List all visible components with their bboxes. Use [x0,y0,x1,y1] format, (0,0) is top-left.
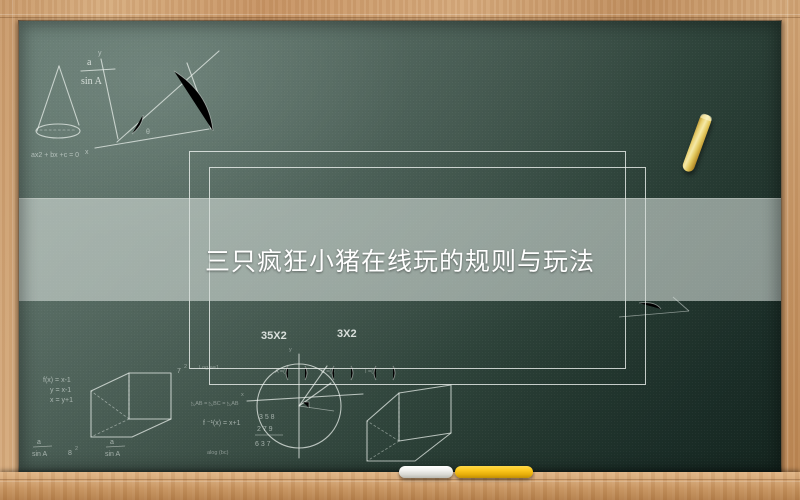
tray-lip-shadow [0,479,800,480]
inverse-function: f ⁻¹(x) = x+1 [203,420,241,427]
eight-squared: 8 2 [68,446,78,457]
chalkboard-banner: a sin A y x θ ax2 + bx +c = [0,0,800,500]
alog-bc: alog (bc) [207,450,229,456]
angle-axes-doodle: y x θ [85,50,219,156]
title-band-edge [19,198,781,199]
frac3-numerator: a [110,439,114,446]
eight-exponent: 2 [75,446,78,452]
fx-line-1: f(x) = x-1 [43,377,71,384]
division-row-3: 6 3 7 [255,441,271,448]
chalk-piece-yellow [455,466,533,478]
page-title: 三只疯狂小猪在线玩的规则与玩法 [19,248,781,276]
tray-lip-highlight [0,481,800,482]
circle-axis-x: x [241,392,244,398]
fx-line-3: x = y+1 [50,397,73,404]
quadratic-equation: ax2 + bx +c = 0 [31,152,79,159]
division-row-1: 3 5 8 [259,414,275,421]
chalk-piece-white [399,466,453,478]
axis-x-label: x [85,149,89,156]
cone-doodle [36,66,80,138]
fraction-numerator: a [87,57,92,68]
frame-bevel-right [787,0,788,500]
seven-squared: 7 2 [177,364,187,375]
frac2-denominator: sin A [32,451,48,458]
frame-bevel-left [12,0,13,500]
angle-theta-label: θ [146,129,150,136]
seven-exponent: 2 [184,364,187,370]
fraction-a-sina-3: a sin A [105,439,125,458]
cube-doodle-left [91,373,171,437]
frac2-numerator: a [37,439,41,446]
seven-base: 7 [177,368,181,375]
fraction-a-sina-top: a sin A [81,57,115,87]
fx-line-2: y = x-1 [50,387,71,394]
frac3-denominator: sin A [105,451,121,458]
triangle-congruence: ◺AB = ◺BC = ◺AB [191,401,239,407]
cube-doodle-right [367,385,451,461]
axis-y-label: y [98,50,102,57]
chalk-stick-on-board [681,113,713,173]
eight-base: 8 [68,450,72,457]
long-division: 3 5 8 2 7 9 6 3 7 [255,414,283,448]
fraction-denominator: sin A [81,76,103,87]
frame-bevel-shadow [0,17,800,18]
frame-bevel-highlight [0,14,800,15]
fraction-a-sina-2: a sin A [32,439,52,458]
function-equations: f(x) = x-1 y = x-1 x = y+1 [43,377,73,404]
division-row-2: 2 7 9 [257,426,273,433]
chalkboard-surface: a sin A y x θ ax2 + bx +c = [19,21,781,472]
